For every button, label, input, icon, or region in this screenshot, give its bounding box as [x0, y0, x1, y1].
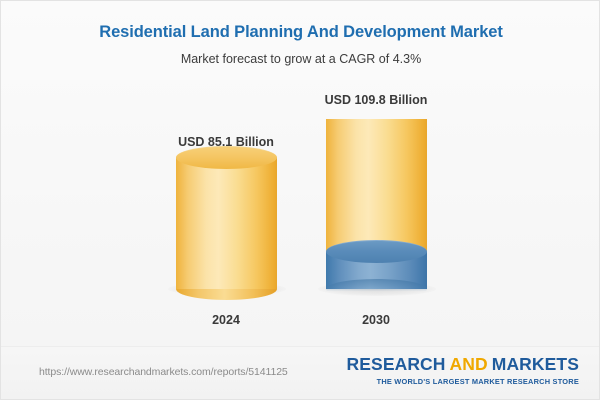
chart-plot-area: USD 85.1 Billion 2024 USD 109.8 Billion: [1, 81, 600, 336]
chart-header: Residential Land Planning And Developmen…: [1, 1, 600, 66]
bar-segment-base-2030: [326, 119, 427, 251]
source-url[interactable]: https://www.researchandmarkets.com/repor…: [39, 366, 288, 378]
bar-top-cap-2030: [326, 240, 427, 263]
bar-segment-base-2024: [176, 157, 277, 289]
bar-body-2024: [176, 157, 277, 289]
chart-footer: https://www.researchandmarkets.com/repor…: [1, 346, 600, 399]
chart-card: Residential Land Planning And Developmen…: [0, 0, 600, 400]
bar-segment-divider-2030: [326, 279, 427, 299]
bar-cylinder-2030: [326, 119, 427, 289]
bar-category-label-2024: 2024: [150, 313, 302, 327]
logo-word-research: RESEARCH: [347, 354, 446, 374]
logo-word-markets: MARKETS: [492, 354, 579, 374]
bar-cylinder-2024: [176, 157, 277, 289]
research-and-markets-logo[interactable]: RESEARCHANDMARKETS THE WORLD'S LARGEST M…: [347, 356, 579, 386]
logo-tagline: THE WORLD'S LARGEST MARKET RESEARCH STOR…: [347, 377, 579, 386]
bar-value-label-2030: USD 109.8 Billion: [300, 93, 452, 107]
bar-segment-growth-2030: [326, 251, 427, 289]
chart-title: Residential Land Planning And Developmen…: [1, 1, 600, 42]
logo-word-and: AND: [450, 354, 488, 374]
logo-wordmark: RESEARCHANDMARKETS: [347, 356, 579, 374]
bar-category-label-2030: 2030: [300, 313, 452, 327]
bar-group-2024: USD 85.1 Billion 2024: [150, 81, 302, 336]
chart-subtitle: Market forecast to grow at a CAGR of 4.3…: [1, 42, 600, 66]
bar-top-cap-2024: [176, 146, 277, 169]
bar-body-base-2030: [326, 119, 427, 251]
bar-group-2030: USD 109.8 Billion 2030: [300, 81, 452, 336]
